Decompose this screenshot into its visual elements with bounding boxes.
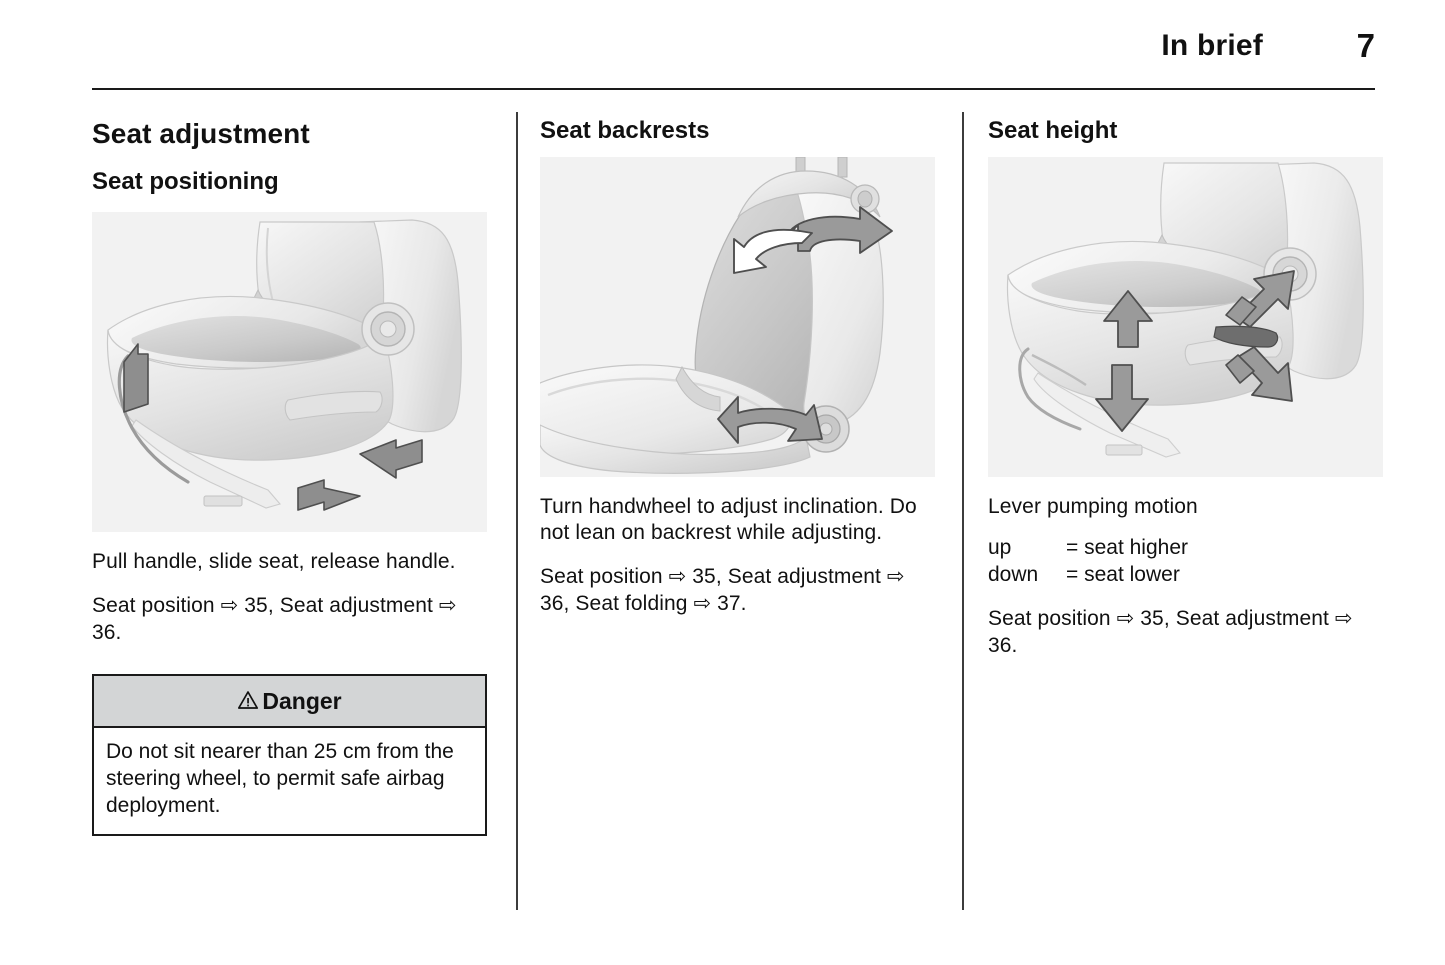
- subsection-title-seat-positioning: Seat positioning: [92, 168, 487, 196]
- danger-callout-text: Do not sit nearer than 25 cm from the st…: [94, 728, 485, 834]
- danger-callout-label: Danger: [262, 688, 341, 715]
- definition-term-down: down: [988, 562, 1066, 589]
- paragraph-pull-handle: Pull handle, slide seat, release handle.: [92, 549, 487, 576]
- seat-backrest-illustration: [540, 157, 935, 477]
- warning-triangle-icon: [237, 689, 259, 716]
- column-divider-left: [516, 112, 518, 910]
- column-divider-right: [962, 112, 964, 910]
- column-seat-backrests: Seat backrests: [540, 112, 935, 618]
- paragraph-lever-pumping-motion: Lever pumping motion: [988, 494, 1383, 521]
- section-title-seat-adjustment: Seat adjustment: [92, 118, 487, 150]
- column-seat-adjustment: Seat adjustment Seat positioning: [92, 112, 487, 836]
- page-header: In brief 7: [92, 22, 1375, 70]
- definition-desc-down: = seat lower: [1066, 562, 1383, 589]
- paragraph-turn-handwheel: Turn handwheel to adjust inclination. Do…: [540, 494, 935, 548]
- paragraph-cross-reference: Seat position ⇨ 35, Seat adjustment ⇨ 36…: [540, 564, 935, 618]
- seat-height-illustration: [988, 157, 1383, 477]
- paragraph-cross-reference: Seat position ⇨ 35, Seat adjustment ⇨ 36…: [92, 593, 487, 647]
- header-divider-rule: [92, 88, 1375, 90]
- page-title: In brief: [1161, 29, 1263, 63]
- seat-positioning-illustration: [92, 212, 487, 532]
- page-number: 7: [1349, 27, 1375, 65]
- section-title-seat-backrests: Seat backrests: [540, 117, 935, 145]
- danger-callout: Danger Do not sit nearer than 25 cm from…: [92, 674, 487, 836]
- definition-row-down: down = seat lower: [988, 562, 1383, 589]
- definition-desc-up: = seat higher: [1066, 535, 1383, 562]
- seat-height-definitions: up = seat higher down = seat lower: [988, 535, 1383, 589]
- arrow-slide-back: [298, 480, 360, 510]
- paragraph-cross-reference: Seat position ⇨ 35, Seat adjustment ⇨ 36…: [988, 606, 1383, 660]
- content-columns: Seat adjustment Seat positioning: [0, 112, 1445, 912]
- arrow-slide-forward: [360, 440, 422, 478]
- definition-term-up: up: [988, 535, 1066, 562]
- danger-callout-header: Danger: [94, 676, 485, 728]
- column-seat-height: Seat height: [988, 112, 1383, 660]
- section-title-seat-height: Seat height: [988, 117, 1383, 145]
- definition-row-up: up = seat higher: [988, 535, 1383, 562]
